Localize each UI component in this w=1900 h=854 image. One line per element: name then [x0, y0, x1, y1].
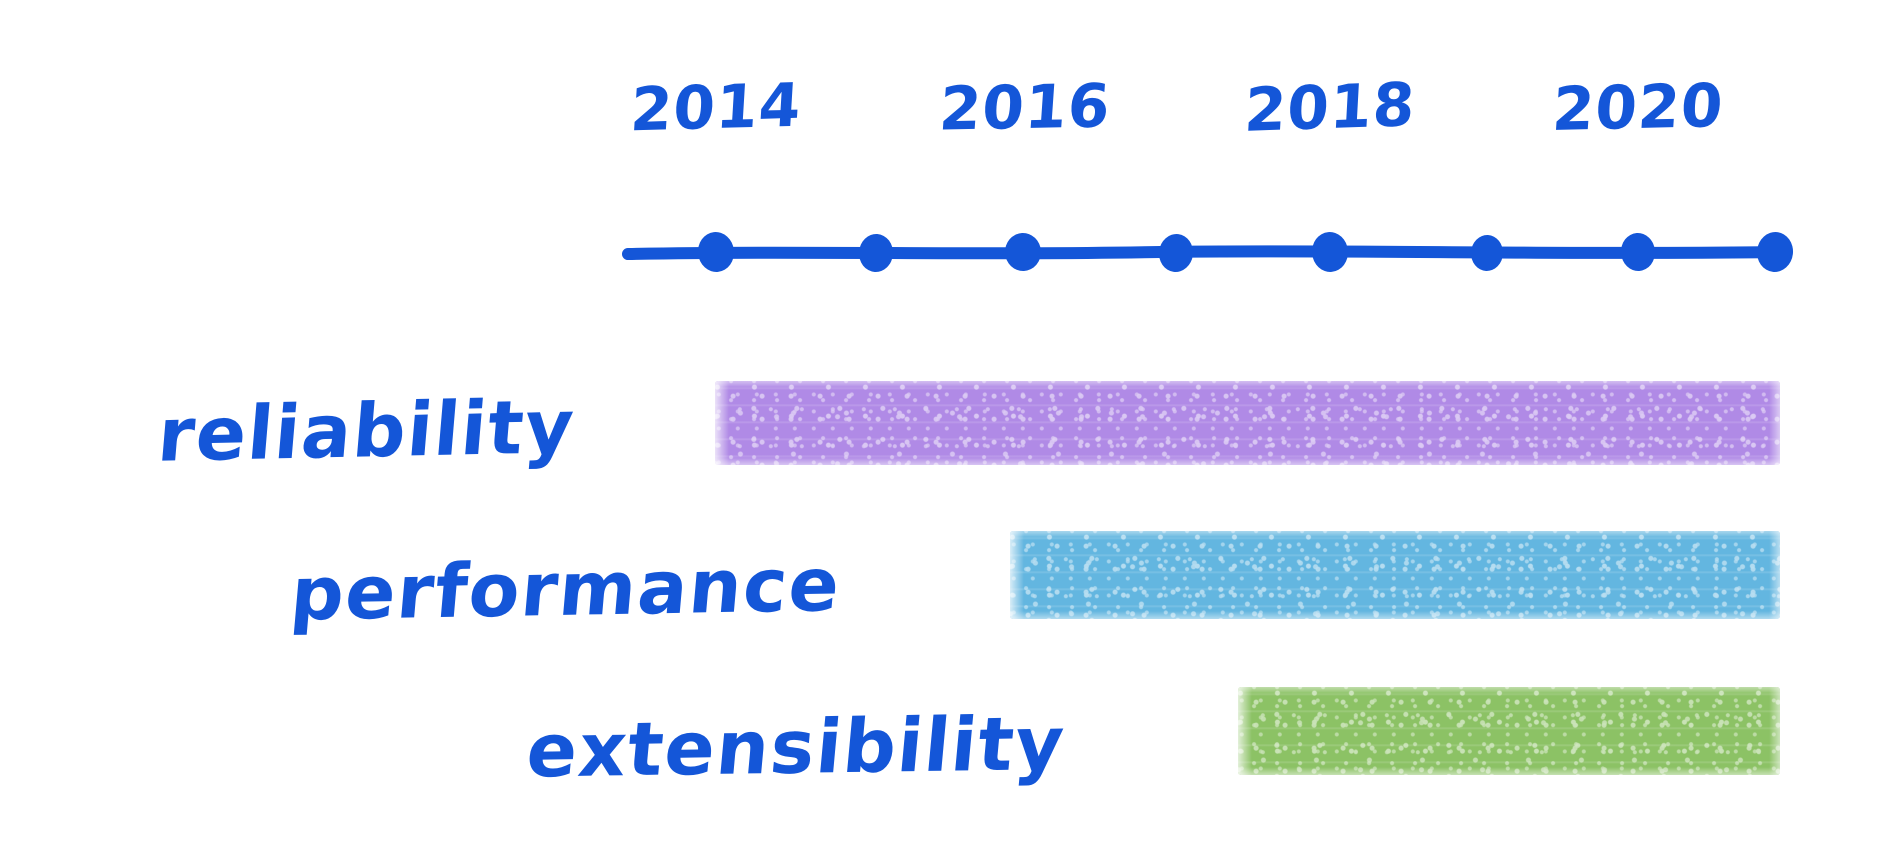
row-label-performance: performance: [287, 548, 843, 632]
bar-extensibility-fill: [1238, 687, 1780, 775]
row-label-reliability: reliability: [155, 390, 578, 473]
axis-year-label-2016: 2016: [937, 76, 1112, 139]
axis-line: [628, 251, 1778, 254]
axis-year-label-2020: 2020: [1551, 76, 1726, 140]
axis-year-label-2018: 2018: [1243, 75, 1417, 141]
row-label-extensibility: extensibility: [524, 707, 1068, 789]
axis-dot-6: [1470, 234, 1504, 272]
axis-dot-1: [696, 230, 736, 274]
axis-dot-7: [1620, 232, 1657, 272]
axis-year-label-2014: 2014: [629, 76, 804, 141]
axis-dot-4: [1157, 232, 1195, 274]
sketch-canvas: 2014 2016 2018 2020 reliability performa…: [0, 0, 1900, 854]
bar-reliability: [715, 381, 1780, 465]
axis-dot-3: [1004, 232, 1042, 272]
axis-dot-5: [1310, 231, 1349, 274]
axis-dot-2: [858, 233, 895, 273]
bar-performance-fill: [1010, 531, 1780, 619]
axis-dot-8: [1755, 230, 1795, 274]
bar-extensibility: [1238, 687, 1780, 775]
bar-performance: [1010, 531, 1780, 619]
bar-reliability-fill: [715, 381, 1780, 465]
